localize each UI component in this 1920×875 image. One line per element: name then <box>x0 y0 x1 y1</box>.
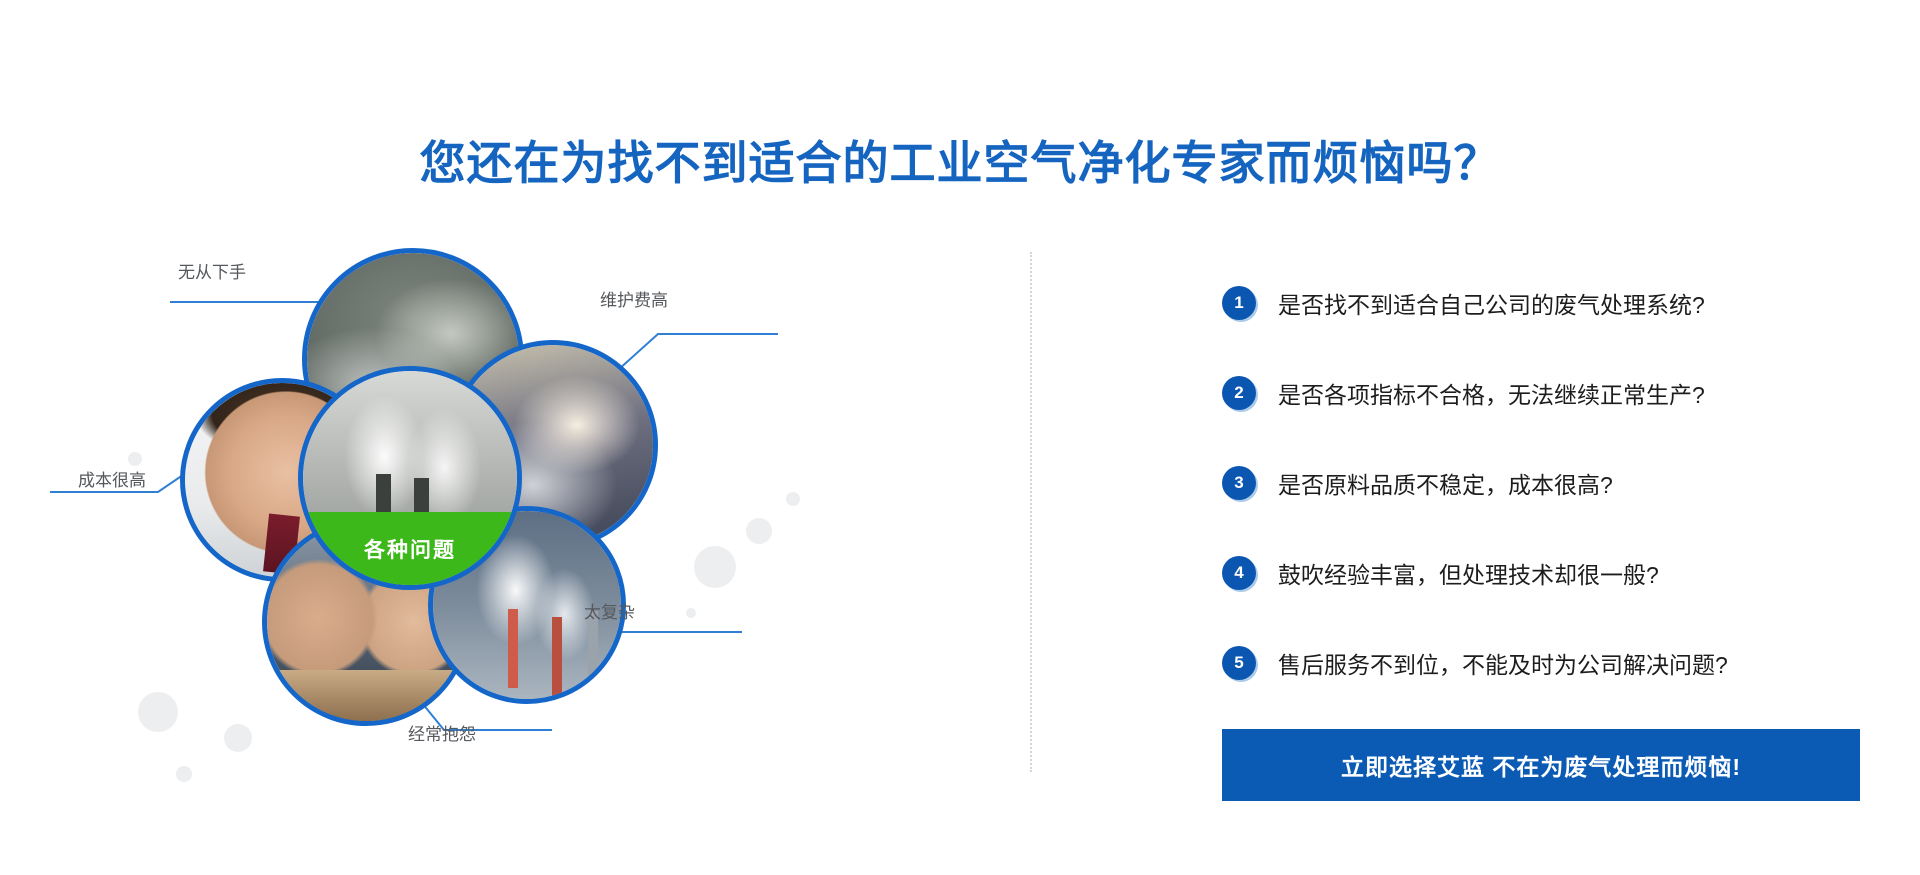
question-text: 鼓吹经验丰富，但处理技术却很一般? <box>1278 556 1659 590</box>
page-title: 您还在为找不到适合的工业空气净化专家而烦恼吗？ <box>0 127 1920 193</box>
list-item[interactable]: 5 售后服务不到位，不能及时为公司解决问题? <box>1222 618 1882 708</box>
list-item[interactable]: 2 是否各项指标不合格，无法继续正常生产? <box>1222 348 1882 438</box>
decorative-dot <box>224 724 252 752</box>
question-text: 是否原料品质不稳定，成本很高? <box>1278 466 1613 500</box>
decorative-dot <box>746 518 772 544</box>
decorative-dot <box>128 452 142 466</box>
decorative-dot <box>686 608 696 618</box>
diagram-label-no-clue: 无从下手 <box>178 258 246 283</box>
question-number-badge: 2 <box>1222 376 1256 410</box>
center-label-text: 各种问题 <box>364 534 456 564</box>
question-number-badge: 3 <box>1222 466 1256 500</box>
decorative-dot <box>138 692 178 732</box>
question-text: 是否各项指标不合格，无法继续正常生产? <box>1278 376 1705 410</box>
list-item[interactable]: 1 是否找不到适合自己公司的废气处理系统? <box>1222 258 1882 348</box>
question-text: 售后服务不到位，不能及时为公司解决问题? <box>1278 646 1728 680</box>
page-root: 您还在为找不到适合的工业空气净化专家而烦恼吗？ <box>0 0 1920 875</box>
question-number-badge: 5 <box>1222 646 1256 680</box>
question-text: 是否找不到适合自己公司的废气处理系统? <box>1278 286 1705 320</box>
decorative-dot <box>786 492 800 506</box>
list-item[interactable]: 4 鼓吹经验丰富，但处理技术却很一般? <box>1222 528 1882 618</box>
diagram-label-high-cost: 成本很高 <box>78 466 146 491</box>
bubble-center[interactable]: 各种问题 <box>298 366 522 590</box>
diagram-label-often-complain: 经常抱怨 <box>408 720 476 745</box>
vertical-divider <box>1030 252 1032 772</box>
problem-diagram: 各种问题 无从下手 维护费高 成本很高 太复杂 经常抱怨 <box>40 230 980 850</box>
decorative-dot <box>694 546 736 588</box>
diagram-label-too-complex: 太复杂 <box>584 598 635 623</box>
list-item[interactable]: 3 是否原料品质不稳定，成本很高? <box>1222 438 1882 528</box>
cta-button[interactable]: 立即选择艾蓝 不在为废气处理而烦恼! <box>1222 729 1860 801</box>
questions-panel: 1 是否找不到适合自己公司的废气处理系统? 2 是否各项指标不合格，无法继续正常… <box>1222 258 1882 708</box>
questions-list: 1 是否找不到适合自己公司的废气处理系统? 2 是否各项指标不合格，无法继续正常… <box>1222 258 1882 708</box>
decorative-dot <box>176 766 192 782</box>
diagram-label-high-maint-fee: 维护费高 <box>600 286 668 311</box>
cta-button-label: 立即选择艾蓝 不在为废气处理而烦恼! <box>1341 748 1741 782</box>
center-label-band: 各种问题 <box>303 512 517 585</box>
question-number-badge: 1 <box>1222 286 1256 320</box>
question-number-badge: 4 <box>1222 556 1256 590</box>
